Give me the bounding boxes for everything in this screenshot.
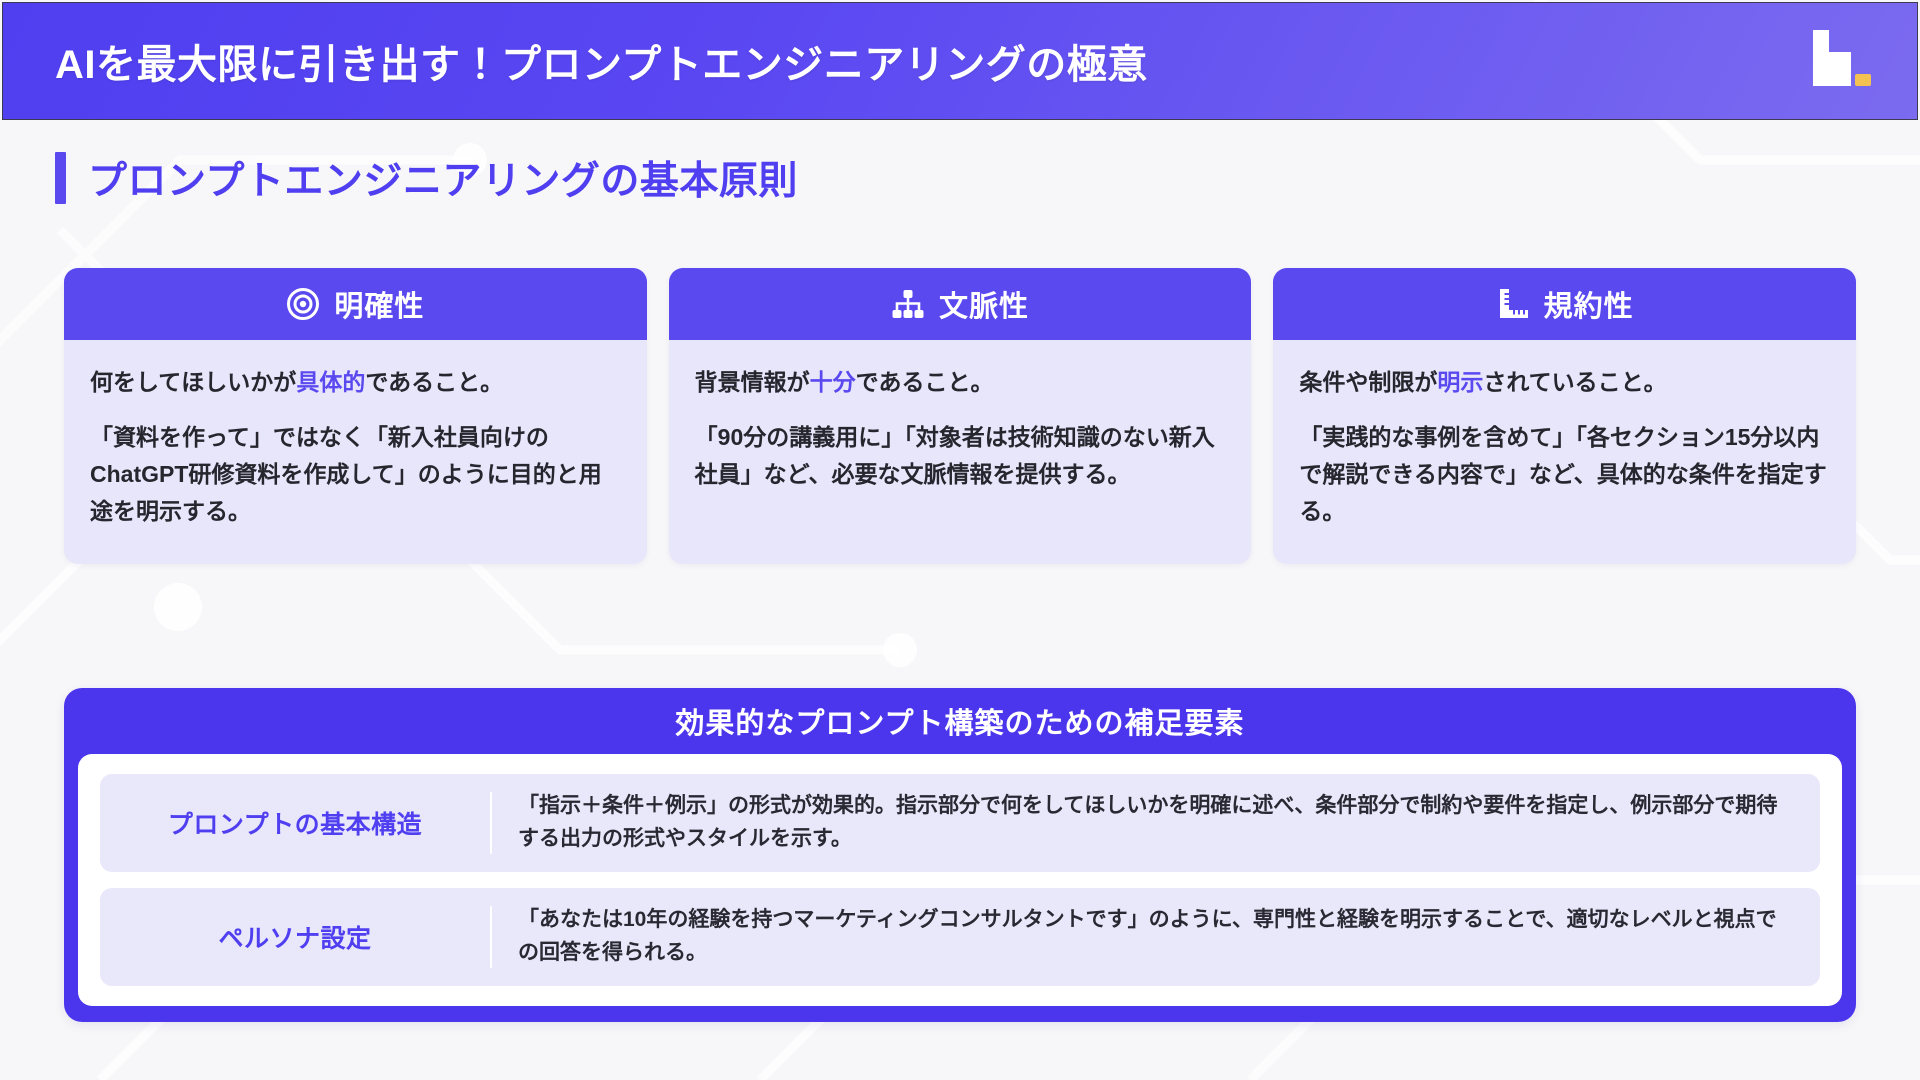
- principle-card: 文脈性 背景情報が十分であること。 「90分の講義用に」「対象者は技術知識のない…: [669, 268, 1252, 564]
- principle-card-body: 何をしてほしいかが具体的であること。 「資料を作って」ではなく「新入社員向けのC…: [64, 340, 647, 564]
- principle-card-list: 明確性 何をしてほしいかが具体的であること。 「資料を作って」ではなく「新入社員…: [64, 268, 1856, 564]
- lead-text-before: 背景情報が: [695, 369, 810, 395]
- principle-card-header: 明確性: [64, 268, 647, 340]
- lead-text-after: であること。: [365, 369, 503, 395]
- principle-card-title: 文脈性: [939, 283, 1029, 325]
- principle-card-header: 文脈性: [669, 268, 1252, 340]
- lead-text-before: 条件や制限が: [1299, 369, 1437, 395]
- lead-highlight: 十分: [810, 369, 856, 395]
- lead-text-before: 何をしてほしいかが: [90, 369, 296, 395]
- principle-card-lead: 何をしてほしいかが具体的であること。: [90, 366, 621, 399]
- lead-highlight: 明示: [1437, 369, 1483, 395]
- supplementary-row-list: プロンプトの基本構造 「指示＋条件＋例示」の形式が効果的。指示部分で何をしてほし…: [78, 754, 1842, 1006]
- lead-text-after: されていること。: [1483, 369, 1666, 395]
- lead-text-after: であること。: [856, 369, 994, 395]
- page-header: AIを最大限に引き出す！プロンプトエンジニアリングの極意: [2, 2, 1918, 120]
- principle-card-detail: 「実践的な事例を含めて」「各セクション15分以内で解説できる内容で」など、具体的…: [1299, 419, 1830, 529]
- principle-card-title: 規約性: [1544, 283, 1634, 325]
- principle-card-body: 条件や制限が明示されていること。 「実践的な事例を含めて」「各セクション15分以…: [1273, 340, 1856, 564]
- principle-card-body: 背景情報が十分であること。 「90分の講義用に」「対象者は技術知識のない新入社員…: [669, 340, 1252, 527]
- principle-card: 明確性 何をしてほしいかが具体的であること。 「資料を作って」ではなく「新入社員…: [64, 268, 647, 564]
- supplementary-row: プロンプトの基本構造 「指示＋条件＋例示」の形式が効果的。指示部分で何をしてほし…: [100, 774, 1820, 872]
- principle-card-lead: 背景情報が十分であること。: [695, 366, 1226, 399]
- supplementary-row-text: 「指示＋条件＋例示」の形式が効果的。指示部分で何をしてほしいかを明確に述べ、条件…: [492, 788, 1820, 858]
- supplementary-row-label: ペルソナ設定: [100, 902, 490, 972]
- supplementary-row-label: プロンプトの基本構造: [100, 788, 490, 858]
- principle-card-title: 明確性: [334, 283, 424, 325]
- supplementary-row-text: 「あなたは10年の経験を持つマーケティングコンサルタントです」のように、専門性と…: [492, 902, 1820, 972]
- supplementary-panel-title: 効果的なプロンプト構築のための補足要素: [64, 688, 1856, 754]
- supplementary-row: ペルソナ設定 「あなたは10年の経験を持つマーケティングコンサルタントです」のよ…: [100, 888, 1820, 986]
- sitemap-hierarchy-icon: [891, 287, 925, 321]
- brand-b-logo: [1807, 28, 1871, 94]
- target-bullseye-icon: [286, 287, 320, 321]
- principle-card-lead: 条件や制限が明示されていること。: [1299, 366, 1830, 399]
- principle-card-detail: 「資料を作って」ではなく「新入社員向けのChatGPT研修資料を作成して」のよう…: [90, 419, 621, 529]
- principle-card-detail: 「90分の講義用に」「対象者は技術知識のない新入社員」など、必要な文脈情報を提供…: [695, 419, 1226, 493]
- principle-card: 規約性 条件や制限が明示されていること。 「実践的な事例を含めて」「各セクション…: [1273, 268, 1856, 564]
- supplementary-panel: 効果的なプロンプト構築のための補足要素 プロンプトの基本構造 「指示＋条件＋例示…: [64, 688, 1856, 1022]
- page-title: AIを最大限に引き出す！プロンプトエンジニアリングの極意: [55, 32, 1148, 90]
- section-title: プロンプトエンジニアリングの基本原則: [88, 150, 798, 206]
- section-heading: プロンプトエンジニアリングの基本原則: [55, 150, 798, 206]
- lead-highlight: 具体的: [296, 369, 365, 395]
- section-accent-bar: [55, 152, 66, 204]
- principle-card-header: 規約性: [1273, 268, 1856, 340]
- ruler-square-icon: [1496, 287, 1530, 321]
